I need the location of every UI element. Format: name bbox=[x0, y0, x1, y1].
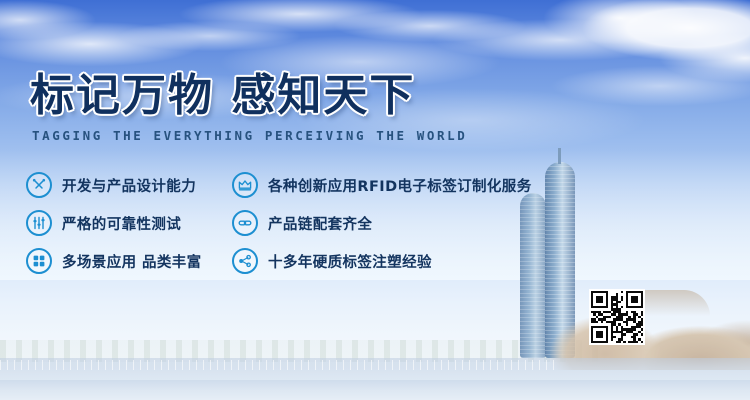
feature-item-rfid-customization: 各种创新应用RFID电子标签订制化服务 bbox=[232, 170, 532, 200]
feature-item-molding-experience: 十多年硬质标签注塑经验 bbox=[232, 246, 432, 276]
feature-item-reliability-testing: 严格的可靠性测试 bbox=[26, 208, 181, 238]
feature-label: 各种创新应用RFID电子标签订制化服务 bbox=[268, 175, 532, 196]
feature-list: 开发与产品设计能力 严格的可靠性测试 bbox=[0, 166, 750, 278]
sliders-icon bbox=[26, 210, 52, 236]
banner-headline: 标记万物 感知天下 bbox=[30, 74, 415, 118]
feature-item-development-design: 开发与产品设计能力 bbox=[26, 170, 196, 200]
promenade-railing bbox=[0, 360, 560, 370]
tools-cross-icon bbox=[26, 172, 52, 198]
promotional-banner: 标记万物 感知天下 TAGGING THE EVERYTHING PERCEIV… bbox=[0, 0, 750, 400]
feature-item-multi-scenario: 多场景应用 品类丰富 bbox=[26, 246, 202, 276]
feature-label: 严格的可靠性测试 bbox=[62, 213, 181, 234]
chain-link-icon bbox=[232, 210, 258, 236]
crown-icon bbox=[232, 172, 258, 198]
feature-label: 产品链配套齐全 bbox=[268, 213, 372, 234]
banner-subheadline: TAGGING THE EVERYTHING PERCEIVING THE WO… bbox=[32, 128, 467, 143]
share-nodes-icon bbox=[232, 248, 258, 274]
feature-item-product-chain: 产品链配套齐全 bbox=[232, 208, 372, 238]
feature-label: 十多年硬质标签注塑经验 bbox=[268, 251, 432, 272]
grid-four-squares-icon bbox=[26, 248, 52, 274]
water-surface bbox=[0, 380, 750, 400]
qr-code[interactable] bbox=[589, 289, 645, 345]
feature-label: 开发与产品设计能力 bbox=[62, 175, 196, 196]
qr-code-modules bbox=[591, 291, 643, 343]
feature-label: 多场景应用 品类丰富 bbox=[62, 251, 202, 272]
tower-spire bbox=[558, 148, 561, 164]
